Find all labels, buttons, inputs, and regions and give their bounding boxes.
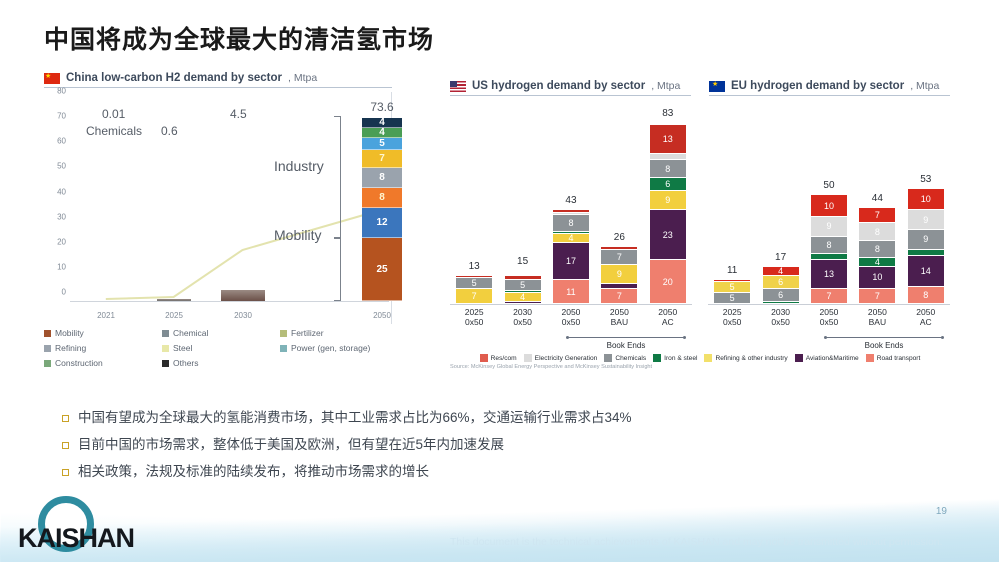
china-y-tick: 20 xyxy=(44,237,66,246)
us-bar-segment: 5 xyxy=(456,278,492,289)
cn-flag-icon xyxy=(44,73,60,84)
industry-brace xyxy=(334,116,341,238)
china-y-tick: 40 xyxy=(44,187,66,196)
us-bar-total: 13 xyxy=(456,261,492,272)
eu-bar-segment: 8 xyxy=(908,287,944,304)
china-bar-segment: 25 xyxy=(362,238,402,301)
eu-bar-column: 531099148 xyxy=(908,189,944,304)
legend-label: Fertilizer xyxy=(291,328,324,338)
x-label-year: 2050 xyxy=(811,307,847,318)
us-chart: 13571554438417112679783138692320 20250x5… xyxy=(450,102,692,352)
eu-x-axis xyxy=(708,304,950,305)
china-chemicals-label: Chemicals xyxy=(86,124,142,138)
us-bar-column: 43841711 xyxy=(553,210,589,304)
china-bar-segment: 4 xyxy=(362,128,402,138)
legend-swatch xyxy=(866,354,874,362)
us-x-labels: 20250x5020300x5020500x502050BAU2050AC xyxy=(450,307,692,328)
legend-label: Steel xyxy=(173,343,192,353)
bullet-text: 相关政策，法规及标准的陆续发布，将推动市场需求的增长 xyxy=(78,464,429,480)
bullet-text: 目前中国的市场需求，整体低于美国及欧洲，但有望在近5年内加速发展 xyxy=(78,437,504,453)
x-label-year: 2030 xyxy=(505,307,541,318)
eu-bar-segment: 7 xyxy=(811,289,847,304)
bullet-marker-icon xyxy=(62,415,69,422)
eu-bar-segment: 5 xyxy=(714,293,750,304)
legend-label: Electricity Generation xyxy=(535,355,598,362)
eu-bar-segment: 6 xyxy=(763,289,799,302)
us-bar-segment: 8 xyxy=(650,160,686,177)
us-bar-column: 83138692320 xyxy=(650,123,686,304)
china-value-2025: 0.6 xyxy=(161,124,178,138)
eu-chart-title: EU hydrogen demand by sector xyxy=(731,80,904,92)
x-label-year: 2050 xyxy=(601,307,637,318)
china-legend-item: Power (gen, storage) xyxy=(280,343,398,353)
eu-bar-segment: 4 xyxy=(763,267,799,276)
eu-bar-column: 17466 xyxy=(763,267,799,304)
china-legend-item: Mobility xyxy=(44,328,162,338)
china-y-tick: 10 xyxy=(44,262,66,271)
legend-swatch xyxy=(704,354,712,362)
eu-x-label: 20250x50 xyxy=(714,307,750,328)
page-number: 19 xyxy=(936,506,947,517)
legend-label: Mobility xyxy=(55,328,84,338)
eu-bar-total: 50 xyxy=(811,180,847,191)
right-charts-wrap: US hydrogen demand by sector , Mtpa EU h… xyxy=(450,80,950,370)
x-label-year: 2025 xyxy=(714,307,750,318)
x-label-scenario: 0x50 xyxy=(456,317,492,328)
us-bar-total: 83 xyxy=(650,108,686,119)
eu-bar-segment: 10 xyxy=(811,195,847,217)
china-legend-item: Others xyxy=(162,358,280,368)
us-bar-segment: 9 xyxy=(650,191,686,211)
us-bar-segment: 17 xyxy=(553,243,589,280)
x-label-year: 2050 xyxy=(553,307,589,318)
bullet-item: 中国有望成为全球最大的氢能消费市场，其中工业需求占比为66%，交通运输行业需求占… xyxy=(62,410,882,426)
eu-x-label: 20300x50 xyxy=(763,307,799,328)
china-bar xyxy=(221,290,265,301)
footer-wave-1 xyxy=(0,493,999,562)
china-bar-segment: 12 xyxy=(362,208,402,238)
china-bar-segment: 4 xyxy=(362,118,402,128)
china-bar-segment: 8 xyxy=(362,188,402,208)
eu-bar-segment: 8 xyxy=(811,237,847,254)
us-bar-segment: 11 xyxy=(553,280,589,304)
us-bar-segment: 20 xyxy=(650,260,686,304)
china-bar-segment: 7 xyxy=(362,150,402,168)
bullet-marker-icon xyxy=(62,442,69,449)
china-y-tick: 70 xyxy=(44,112,66,121)
china-x-tick: 2030 xyxy=(234,311,252,320)
eu-bar-segment: 8 xyxy=(859,241,895,258)
x-label-year: 2050 xyxy=(650,307,686,318)
legend-swatch xyxy=(280,345,287,352)
legend-label: Refining & other industry xyxy=(715,355,787,362)
china-legend-item: Refining xyxy=(44,343,162,353)
china-x-axis xyxy=(70,301,389,302)
china-chart-legend: MobilityChemicalFertilizerRefiningSteelP… xyxy=(44,328,392,368)
right-chart-legend: Res/comElectricity GenerationChemicalsIr… xyxy=(450,354,950,362)
legend-swatch xyxy=(524,354,532,362)
legend-label: Road transport xyxy=(877,355,921,362)
us-bar-total: 15 xyxy=(505,256,541,267)
logo-text: KAISHAN xyxy=(18,523,134,554)
us-bar-segment: 6 xyxy=(650,178,686,191)
eu-bar-total: 11 xyxy=(714,265,750,276)
china-bar-segment: 8 xyxy=(362,168,402,188)
eu-x-label: 2050BAU xyxy=(859,307,895,328)
eu-chart-unit: , Mtpa xyxy=(910,80,939,92)
eu-bar-segment: 4 xyxy=(859,258,895,267)
us-x-label: 2050BAU xyxy=(601,307,637,328)
eu-bar-segment: 10 xyxy=(859,267,895,289)
mobility-brace xyxy=(334,238,341,301)
legend-swatch xyxy=(162,330,169,337)
china-x-tick: 2050 xyxy=(373,311,391,320)
eu-x-label: 20500x50 xyxy=(811,307,847,328)
us-bar-segment: 7 xyxy=(456,289,492,304)
legend-swatch xyxy=(162,345,169,352)
x-label-scenario: BAU xyxy=(601,317,637,328)
x-label-scenario: 0x50 xyxy=(811,317,847,328)
bullet-list: 中国有望成为全球最大的氢能消费市场，其中工业需求占比为66%，交通运输行业需求占… xyxy=(62,410,882,492)
x-label-scenario: 0x50 xyxy=(714,317,750,328)
eu-bar-segment: 7 xyxy=(859,289,895,304)
eu-bar-column: 1155 xyxy=(714,280,750,304)
eu-bar-column: 447884107 xyxy=(859,208,895,304)
legend-swatch xyxy=(480,354,488,362)
eu-bar-segment: 14 xyxy=(908,256,944,286)
eu-bar-segment: 9 xyxy=(908,230,944,250)
us-bookends-label: Book Ends xyxy=(566,341,686,350)
x-label-scenario: 0x50 xyxy=(505,317,541,328)
legend-swatch xyxy=(653,354,661,362)
us-chart-header: US hydrogen demand by sector , Mtpa xyxy=(450,80,691,96)
eu-bookends: Book Ends xyxy=(824,335,944,350)
us-bar-segment: 7 xyxy=(601,250,637,265)
china-y-tick: 80 xyxy=(44,87,66,96)
legend-swatch xyxy=(280,330,287,337)
legend-label: Chemicals xyxy=(615,355,646,362)
legend-swatch xyxy=(795,354,803,362)
legend-swatch xyxy=(44,330,51,337)
us-x-label: 2050AC xyxy=(650,307,686,328)
eu-bar-segment: 10 xyxy=(908,189,944,211)
china-legend-item: Fertilizer xyxy=(280,328,398,338)
bullet-text: 中国有望成为全球最大的氢能消费市场，其中工业需求占比为66%，交通运输行业需求占… xyxy=(78,410,632,426)
right-legend-item: Electricity Generation xyxy=(524,354,598,362)
x-label-year: 2030 xyxy=(763,307,799,318)
legend-swatch xyxy=(162,360,169,367)
china-stacked-bar-2050: 2512887544 xyxy=(362,116,402,301)
right-chart-plots: 13571554438417112679783138692320 20250x5… xyxy=(450,102,950,352)
eu-bar-segment: 13 xyxy=(811,260,847,288)
x-label-scenario: 0x50 xyxy=(763,317,799,328)
eu-bar-segment: 9 xyxy=(908,210,944,230)
legend-label: Aviation&Maritime xyxy=(806,355,859,362)
eu-bar-total: 53 xyxy=(908,174,944,185)
legend-swatch xyxy=(44,345,51,352)
us-x-label: 20250x50 xyxy=(456,307,492,328)
us-bar-column: 1554 xyxy=(505,271,541,304)
china-bar-segment: 5 xyxy=(362,138,402,151)
us-bar-segment: 4 xyxy=(553,234,589,243)
china-y-tick: 0 xyxy=(44,288,66,297)
us-bar-segment: 13 xyxy=(650,125,686,153)
china-x-tick: 2025 xyxy=(165,311,183,320)
china-y-tick: 60 xyxy=(44,137,66,146)
legend-swatch xyxy=(604,354,612,362)
footer-disclaimer: This document is the technical achieveme… xyxy=(450,536,943,548)
us-bars: 13571554438417112679783138692320 xyxy=(450,108,692,304)
bullet-item: 相关政策，法规及标准的陆续发布，将推动市场需求的增长 xyxy=(62,464,882,480)
us-x-label: 20500x50 xyxy=(553,307,589,328)
bullet-marker-icon xyxy=(62,469,69,476)
eu-x-labels: 20250x5020300x5020500x502050BAU2050AC xyxy=(708,307,950,328)
eu-bar-segment: 9 xyxy=(811,217,847,237)
eu-bar-segment: 6 xyxy=(763,276,799,289)
legend-label: Iron & steel xyxy=(664,355,697,362)
legend-label: Others xyxy=(173,358,199,368)
china-value-2021: 0.01 xyxy=(102,107,125,121)
china-total-2050: 73.6 xyxy=(370,100,393,114)
china-y-tick: 50 xyxy=(44,162,66,171)
us-bar-segment: 7 xyxy=(601,289,637,304)
legend-label: Construction xyxy=(55,358,103,368)
eu-bar-column: 501098137 xyxy=(811,195,847,304)
us-bar-segment: 9 xyxy=(601,265,637,285)
footer: KAISHAN This document is the technical a… xyxy=(0,490,999,562)
eu-bookends-label: Book Ends xyxy=(824,341,944,350)
eu-bars: 115517466501098137447884107531099148 xyxy=(708,108,950,304)
us-bar-total: 43 xyxy=(553,195,589,206)
eu-x-label: 2050AC xyxy=(908,307,944,328)
right-legend-item: Iron & steel xyxy=(653,354,697,362)
eu-bar-total: 44 xyxy=(859,193,895,204)
china-industry-label: Industry xyxy=(274,158,324,174)
eu-bar-total: 17 xyxy=(763,252,799,263)
china-legend-item: Construction xyxy=(44,358,162,368)
us-bar-segment: 5 xyxy=(505,280,541,291)
right-legend-item: Road transport xyxy=(866,354,921,362)
china-value-2030: 4.5 xyxy=(230,107,247,121)
x-label-year: 2025 xyxy=(456,307,492,318)
us-x-axis xyxy=(450,304,692,305)
china-chart-panel: China low-carbon H2 demand by sector , M… xyxy=(44,72,392,368)
us-chart-title: US hydrogen demand by sector xyxy=(472,80,645,92)
eu-chart: 115517466501098137447884107531099148 202… xyxy=(708,102,950,352)
us-flag-icon xyxy=(450,81,466,92)
china-chart-plot: 0102030405060708020212025203020502512887… xyxy=(44,92,392,324)
legend-swatch xyxy=(44,360,51,367)
china-chart-title: China low-carbon H2 demand by sector xyxy=(66,72,282,84)
us-bar-segment: 8 xyxy=(553,215,589,232)
us-x-label: 20300x50 xyxy=(505,307,541,328)
us-bookends: Book Ends xyxy=(566,335,686,350)
x-label-scenario: AC xyxy=(908,317,944,328)
eu-bar-segment: 7 xyxy=(859,208,895,223)
page-title: 中国将成为全球最大的清洁氢市场 xyxy=(44,20,434,56)
us-bar-column: 26797 xyxy=(601,247,637,304)
us-bar-total: 26 xyxy=(601,232,637,243)
eu-chart-header: EU hydrogen demand by sector , Mtpa xyxy=(709,80,950,96)
x-label-year: 2050 xyxy=(908,307,944,318)
legend-label: Res/com xyxy=(491,355,517,362)
china-y-tick: 30 xyxy=(44,212,66,221)
right-legend-item: Res/com xyxy=(480,354,517,362)
china-chart-unit: , Mtpa xyxy=(288,72,317,84)
us-bar-segment: 4 xyxy=(505,293,541,302)
right-legend-item: Aviation&Maritime xyxy=(795,354,859,362)
right-legend-item: Chemicals xyxy=(604,354,646,362)
china-x-tick: 2021 xyxy=(97,311,115,320)
kaishan-logo: KAISHAN xyxy=(8,523,134,554)
us-bar-segment: 23 xyxy=(650,210,686,260)
legend-label: Power (gen, storage) xyxy=(291,343,370,353)
x-label-scenario: AC xyxy=(650,317,686,328)
china-legend-item: Steel xyxy=(162,343,280,353)
source-note: Source: McKinsey Global Energy Perspecti… xyxy=(450,364,950,370)
eu-bar-segment: 5 xyxy=(714,282,750,293)
china-legend-item: Chemical xyxy=(162,328,280,338)
china-bar xyxy=(157,299,191,301)
china-chart-header: China low-carbon H2 demand by sector , M… xyxy=(44,72,392,88)
china-mobility-label: Mobility xyxy=(274,227,321,243)
right-chart-headers: US hydrogen demand by sector , Mtpa EU h… xyxy=(450,80,950,96)
us-bar-column: 1357 xyxy=(456,276,492,304)
us-chart-unit: , Mtpa xyxy=(651,80,680,92)
x-label-scenario: 0x50 xyxy=(553,317,589,328)
bullet-item: 目前中国的市场需求，整体低于美国及欧洲，但有望在近5年内加速发展 xyxy=(62,437,882,453)
eu-flag-icon xyxy=(709,81,725,92)
right-legend-item: Refining & other industry xyxy=(704,354,787,362)
x-label-year: 2050 xyxy=(859,307,895,318)
legend-label: Chemical xyxy=(173,328,208,338)
legend-label: Refining xyxy=(55,343,86,353)
eu-bar-segment: 8 xyxy=(859,223,895,240)
x-label-scenario: BAU xyxy=(859,317,895,328)
